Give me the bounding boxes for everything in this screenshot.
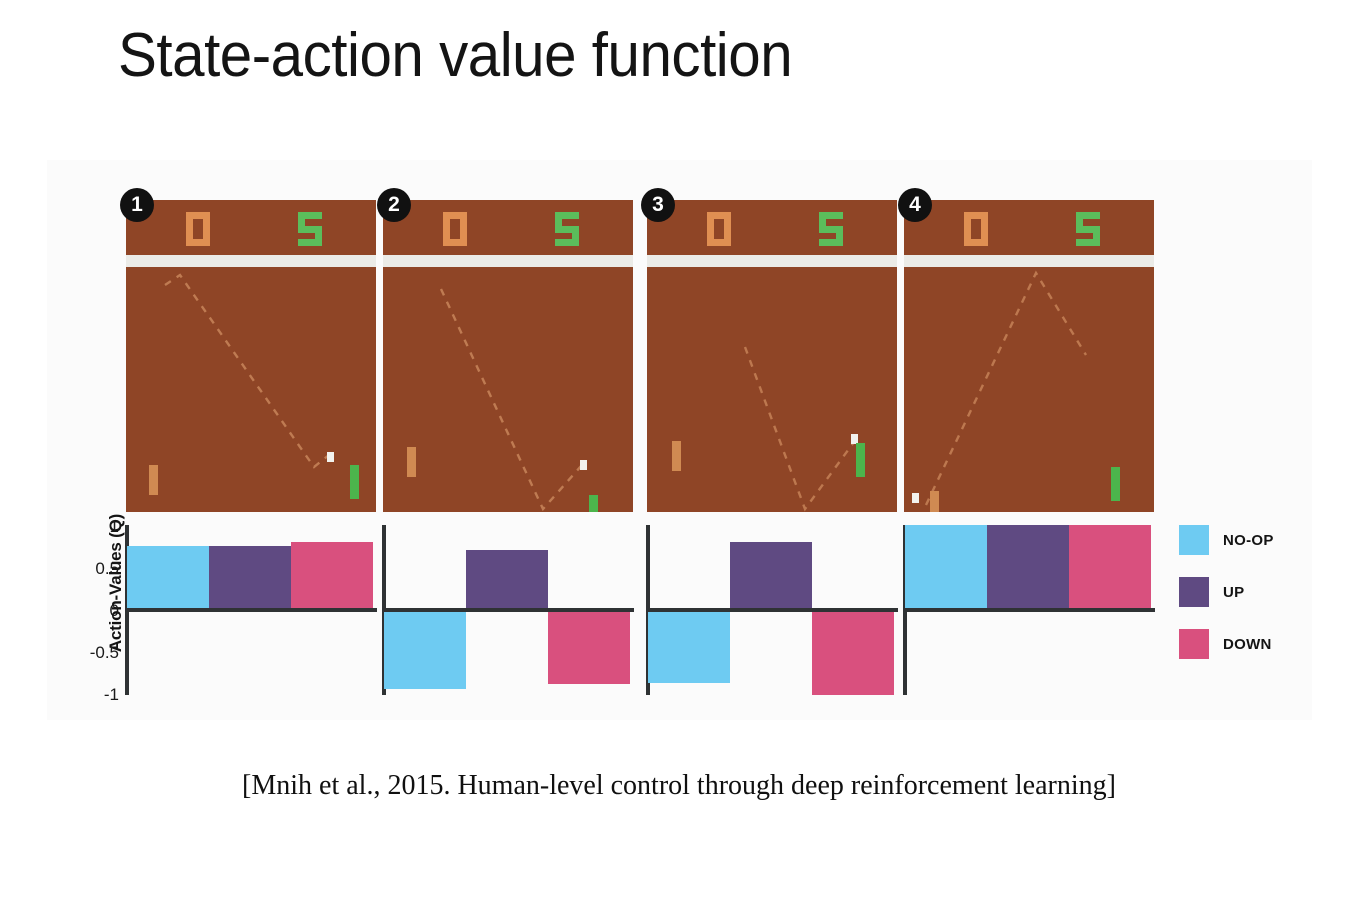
bar-up-panel-1 (209, 546, 291, 608)
agent-paddle (589, 495, 598, 512)
bar-no-op-panel-1 (127, 546, 209, 608)
ball-trajectory (383, 267, 633, 512)
ball (912, 493, 919, 503)
legend-swatch-no-op (1179, 525, 1209, 555)
pong-field-2 (383, 267, 633, 512)
figure-container: 1 (47, 160, 1312, 720)
court-separator (383, 255, 633, 267)
score-right-digit (1076, 212, 1100, 246)
y-axis-ticks: 1 0.5 0 -0.5 -1 (69, 515, 119, 685)
bar-down-panel-1 (291, 542, 373, 608)
legend-label-up: UP (1223, 584, 1244, 601)
bar-group-3 (646, 525, 898, 695)
score-band (904, 200, 1154, 255)
panel-badge-4: 4 (898, 188, 932, 222)
agent-paddle (1111, 467, 1120, 501)
agent-paddle (856, 443, 865, 477)
ball-trajectory (126, 267, 376, 512)
zero-line (903, 608, 1155, 612)
opponent-paddle (149, 465, 158, 495)
panel-badge-1: 1 (120, 188, 154, 222)
score-left-digit (186, 212, 210, 246)
score-right-digit (555, 212, 579, 246)
bar-no-op-panel-3 (648, 612, 730, 683)
game-panel-3 (647, 200, 897, 512)
score-left-digit (964, 212, 988, 246)
legend-swatch-down (1179, 629, 1209, 659)
game-panel-2 (383, 200, 633, 512)
legend-label-no-op: NO-OP (1223, 532, 1274, 549)
score-right-digit (298, 212, 322, 246)
y-tick--1: -1 (75, 686, 119, 703)
agent-paddle (350, 465, 359, 499)
bar-up-panel-3 (730, 542, 812, 608)
ball (580, 460, 587, 470)
legend-item-no-op: NO-OP (1179, 518, 1319, 562)
game-panel-1 (126, 200, 376, 512)
court-separator (647, 255, 897, 267)
bar-down-panel-2 (548, 612, 630, 684)
bar-group-4 (903, 525, 1155, 695)
pong-field-3 (647, 267, 897, 512)
court-separator (904, 255, 1154, 267)
score-band (126, 200, 376, 255)
y-tick-0: 0 (75, 602, 119, 619)
page-title: State-action value function (118, 20, 792, 91)
y-tick--0.5: -0.5 (75, 644, 119, 661)
ball (327, 452, 334, 462)
pong-field-4 (904, 267, 1154, 512)
opponent-paddle (672, 441, 681, 471)
y-tick-0.5: 0.5 (75, 560, 119, 577)
panel-badge-2: 2 (377, 188, 411, 222)
pong-field-1 (126, 267, 376, 512)
court-separator (126, 255, 376, 267)
bar-down-panel-3 (812, 612, 894, 695)
legend-swatch-up (1179, 577, 1209, 607)
legend-label-down: DOWN (1223, 636, 1272, 653)
score-band (383, 200, 633, 255)
game-panel-4 (904, 200, 1154, 512)
bar-down-panel-4 (1069, 525, 1151, 608)
legend-item-down: DOWN (1179, 622, 1319, 666)
score-left-digit (707, 212, 731, 246)
legend-item-up: UP (1179, 570, 1319, 614)
zero-line (125, 608, 377, 612)
bar-up-panel-2 (466, 550, 548, 608)
opponent-paddle (930, 491, 939, 512)
score-band (647, 200, 897, 255)
action-values-chart: Action-Values (Q) 1 0.5 0 -0.5 -1 (47, 515, 1312, 715)
bar-group-1 (125, 525, 377, 695)
y-tick-1: 1 (75, 518, 119, 535)
opponent-paddle (407, 447, 416, 477)
bar-no-op-panel-2 (384, 612, 466, 689)
score-right-digit (819, 212, 843, 246)
panel-badge-3: 3 (641, 188, 675, 222)
bar-up-panel-4 (987, 525, 1069, 608)
figure-caption: [Mnih et al., 2015. Human-level control … (0, 770, 1358, 802)
score-left-digit (443, 212, 467, 246)
bar-group-2 (382, 525, 634, 695)
chart-legend: NO-OP UP DOWN (1179, 518, 1319, 674)
game-panel-row: 1 (47, 160, 1312, 512)
bar-no-op-panel-4 (905, 525, 987, 608)
